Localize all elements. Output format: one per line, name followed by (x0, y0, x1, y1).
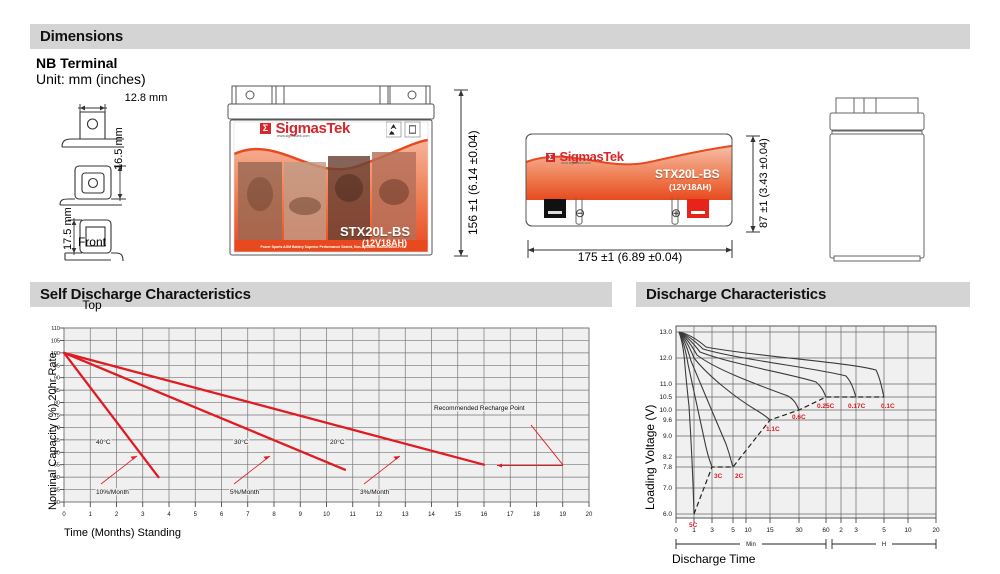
battery-front-icons (386, 121, 426, 139)
battery-side-height-value: 87 ±1 (3.43 ±0.04) (758, 138, 770, 228)
svg-text:5: 5 (882, 527, 886, 534)
non-spillable-icon (409, 125, 416, 134)
svg-text:12: 12 (376, 512, 383, 518)
svg-text:5: 5 (194, 512, 198, 518)
axis-group-min: Min (746, 542, 756, 548)
annot-3pct: 3%/Month (360, 489, 390, 496)
svg-text:18: 18 (533, 512, 540, 518)
svg-text:6.0: 6.0 (663, 511, 672, 518)
section-title-dimensions: Dimensions (30, 28, 123, 45)
annot-30C: 30°C (234, 438, 249, 446)
axis-group-h: H (882, 542, 886, 548)
terminal-height-label: 16.5 mm (113, 127, 125, 170)
annot-recharge-point: Recommended Recharge Point (434, 405, 525, 412)
discharge-ylabel-text: Loading Voltage (V) (643, 405, 657, 510)
battery-front-model: STX20L-BS (340, 224, 410, 239)
annot-5pct: 5%/Month (230, 489, 260, 496)
svg-text:11.0: 11.0 (660, 381, 673, 388)
battery-front-height-label: 156 ±1 (6.14 ±0.04) (466, 130, 480, 235)
svg-text:105: 105 (51, 338, 60, 344)
section-header-dimensions: Dimensions (30, 24, 970, 49)
battery-side-website: www.sigmastek.com (561, 161, 591, 165)
sigmastek-logo-icon-side: Σ (546, 153, 555, 162)
svg-text:10: 10 (323, 512, 330, 518)
section-header-discharge: Discharge Characteristics (636, 282, 970, 307)
terminal-front-label: Front (36, 235, 148, 249)
self-discharge-ylabel-text: Nominal Capacity (%) 20hr Rate (47, 352, 59, 510)
positive-symbol: ⊕ (671, 206, 681, 220)
model-text-side: STX20L-BS (655, 167, 720, 181)
svg-text:10.5: 10.5 (659, 394, 672, 401)
battery-side-model: STX20L-BS (655, 167, 720, 181)
svg-text:19: 19 (559, 512, 566, 518)
svg-text:9: 9 (299, 512, 303, 518)
label-0.6C: 0.6C (792, 414, 806, 421)
battery-length-value: 175 ±1 (6.89 ±0.04) (578, 250, 683, 264)
svg-text:10: 10 (904, 527, 912, 534)
svg-text:10: 10 (744, 527, 752, 534)
label-2C: 2C (735, 473, 744, 480)
svg-text:3: 3 (854, 527, 858, 534)
battery-positive-terminal-symbol: ⊕ (671, 206, 681, 220)
website-text: www.sigmastek.com (277, 134, 310, 138)
svg-text:17: 17 (507, 512, 514, 518)
svg-text:9.0: 9.0 (663, 433, 672, 440)
self-discharge-xlabel: Time (Months) Standing (64, 527, 181, 539)
battery-negative-terminal-symbol: ⊖ (575, 206, 585, 220)
website-text-side: www.sigmastek.com (561, 161, 591, 165)
battery-height-value: 156 ±1 (6.14 ±0.04) (466, 130, 480, 235)
svg-text:20: 20 (586, 512, 593, 518)
section-title-discharge: Discharge Characteristics (636, 286, 826, 303)
terminal-top-text: Top (82, 298, 101, 312)
self-discharge-ylabel: Nominal Capacity (%) 20hr Rate (47, 352, 59, 510)
terminal-depth-label: 17.5 mm (62, 207, 74, 250)
battery-side-capacity: (12V18AH) (669, 182, 712, 192)
tagline-text: Power Sports AGM Battery Superior Perfor… (261, 245, 406, 249)
terminal-width-label: 12.8 mm (36, 88, 216, 106)
svg-text:1: 1 (692, 527, 696, 534)
label-3C: 3C (714, 473, 723, 480)
svg-text:4: 4 (167, 512, 171, 518)
svg-text:60: 60 (822, 527, 830, 534)
svg-text:6: 6 (220, 512, 224, 518)
svg-text:14: 14 (428, 512, 435, 518)
svg-text:1: 1 (89, 512, 93, 518)
terminal-top-label: Top (36, 298, 148, 312)
svg-text:10.0: 10.0 (659, 407, 672, 414)
nb-terminal-unit: Unit: mm (inches) (36, 71, 216, 87)
annot-40C: 40°C (96, 438, 111, 446)
svg-text:13: 13 (402, 512, 409, 518)
svg-text:110: 110 (51, 326, 60, 332)
terminal-height-value: 16.5 mm (113, 127, 125, 170)
svg-text:9.6: 9.6 (663, 417, 672, 424)
label-0.17C: 0.17C (848, 403, 866, 410)
svg-text:0: 0 (62, 512, 66, 518)
svg-text:0: 0 (674, 527, 678, 534)
svg-text:16: 16 (481, 512, 488, 518)
label-0.1C: 0.1C (881, 403, 895, 410)
self-discharge-chart: 110105100 959085 807570 656055 504540 01… (34, 322, 614, 537)
discharge-xlabel: Discharge Time (672, 552, 755, 566)
sigmastek-logo-icon: Σ (260, 123, 271, 134)
label-1.1C: 1.1C (766, 426, 780, 433)
svg-text:2: 2 (839, 527, 843, 534)
annot-20C: 20°C (330, 438, 345, 446)
discharge-ylabel: Loading Voltage (V) (643, 405, 657, 510)
battery-front-website: www.sigmastek.com (277, 134, 310, 138)
svg-text:7.8: 7.8 (663, 464, 672, 471)
nb-terminal-title: NB Terminal (36, 56, 216, 71)
svg-text:8.2: 8.2 (663, 454, 672, 461)
discharge-chart: 13.012.011.0 10.510.09.6 9.08.27.8 7.06.… (636, 318, 1000, 574)
svg-text:12.0: 12.0 (659, 355, 672, 362)
svg-text:7: 7 (246, 512, 250, 518)
label-0.25C: 0.25C (817, 403, 835, 410)
svg-text:15: 15 (454, 512, 461, 518)
battery-end-view (818, 96, 938, 266)
svg-text:7.0: 7.0 (663, 485, 672, 492)
capacity-text-side: (12V18AH) (669, 182, 712, 192)
annot-10pct: 10%/Month (96, 489, 129, 496)
svg-text:2: 2 (115, 512, 119, 518)
battery-side-view (520, 128, 780, 243)
svg-text:3: 3 (141, 512, 145, 518)
terminal-width-value: 12.8 mm (125, 92, 168, 104)
battery-side-length-label: 175 ±1 (6.89 ±0.04) (520, 250, 740, 264)
model-text: STX20L-BS (340, 224, 410, 239)
svg-text:11: 11 (350, 512, 357, 518)
svg-text:3: 3 (710, 527, 714, 534)
terminal-depth-value: 17.5 mm (62, 207, 74, 250)
discharge-xlabel-text: Discharge Time (672, 552, 755, 566)
svg-text:8: 8 (272, 512, 276, 518)
battery-front-tagline: Power Sports AGM Battery Superior Perfor… (236, 245, 430, 249)
nb-terminal-block: NB Terminal Unit: mm (inches) (36, 56, 216, 87)
terminal-front-text: Front (78, 235, 106, 249)
battery-side-height-label: 87 ±1 (3.43 ±0.04) (758, 138, 770, 228)
svg-text:13.0: 13.0 (659, 329, 672, 336)
negative-symbol: ⊖ (575, 206, 585, 220)
svg-text:5: 5 (731, 527, 735, 534)
svg-text:15: 15 (766, 527, 774, 534)
self-discharge-xlabel-text: Time (Months) Standing (64, 527, 181, 539)
svg-text:20: 20 (932, 527, 940, 534)
svg-text:30: 30 (795, 527, 803, 534)
